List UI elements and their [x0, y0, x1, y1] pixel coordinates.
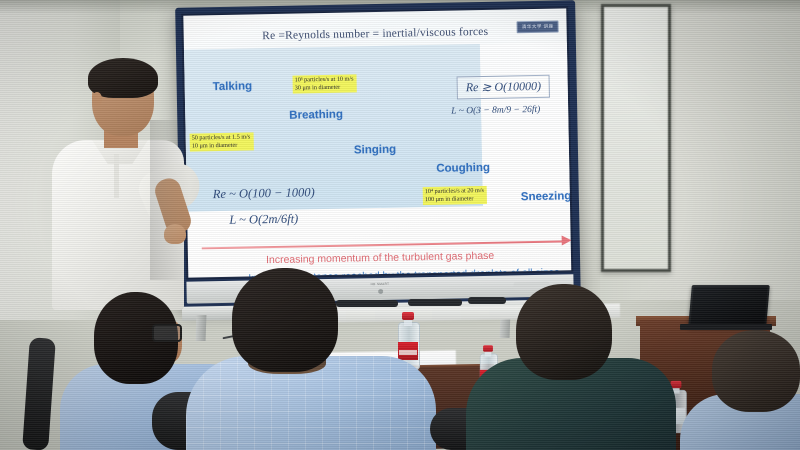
- slide-content: Re =Reynolds number = inertial/viscous f…: [183, 8, 571, 277]
- caption-momentum: Increasing momentum of the turbulent gas…: [266, 250, 494, 266]
- slide-mode-singing: Singing: [354, 144, 396, 157]
- display-bezel: Re =Reynolds number = inertial/viscous f…: [181, 6, 573, 279]
- presenter-placket: [114, 154, 119, 198]
- annotation-breathing-line2: 10 μm in diameter: [192, 141, 251, 150]
- presenter-ear: [92, 92, 102, 106]
- slide-mode-talking: Talking: [213, 80, 253, 93]
- increasing-arrow-head: [562, 235, 572, 245]
- whiteboard-surface: [606, 9, 666, 267]
- presentation-display[interactable]: Re =Reynolds number = inertial/viscous f…: [175, 0, 581, 308]
- slide-watermark: 清华大学 讲座: [517, 21, 559, 34]
- photo-scene: Re =Reynolds number = inertial/viscous f…: [0, 0, 800, 450]
- equation-left-re: Re ~ O(100 − 1000): [213, 185, 315, 202]
- annotation-breathing: 50 particles/s at 1.5 m/s 10 μm in diame…: [190, 132, 254, 151]
- increasing-arrow-line: [202, 240, 566, 249]
- slide-right-tint: [480, 42, 570, 206]
- annotation-coughing: 10⁴ particles/s at 20 m/s 100 μm in diam…: [423, 186, 488, 205]
- attendee-front-right: [466, 284, 656, 450]
- equation-left-l: L ~ O(2m/6ft): [229, 212, 298, 228]
- equation-right-l: L ~ O(3 − 8m/9 − 26ft): [451, 105, 540, 117]
- attendee-far-right: [690, 330, 800, 450]
- attendee-front-center: [186, 268, 416, 450]
- attendee-front-center-head: [232, 268, 338, 372]
- laptop[interactable]: [688, 285, 770, 327]
- display-screen: Re =Reynolds number = inertial/viscous f…: [183, 8, 571, 277]
- equation-boxed-re: Re ≳ O(10000): [457, 75, 551, 100]
- ledge-object-2: [408, 299, 462, 306]
- presenter-shadow: [150, 120, 190, 280]
- whiteboard-panel: [601, 4, 671, 272]
- slide-mode-breathing: Breathing: [289, 109, 343, 122]
- attendee-front-right-head: [516, 284, 612, 380]
- annotation-talking: 10³ particles/s at 10 m/s 30 μm in diame…: [292, 74, 356, 93]
- slide-mode-coughing: Coughing: [436, 162, 490, 175]
- attendee-front-left-glasses: [152, 324, 182, 342]
- annotation-talking-line2: 30 μm in diameter: [295, 83, 354, 92]
- annotation-coughing-line2: 100 μm in diameter: [425, 195, 484, 204]
- laptop-screen: [690, 287, 767, 325]
- attendee-far-right-head: [712, 330, 800, 412]
- slide-mode-sneezing: Sneezing: [521, 190, 572, 203]
- slide-title: Re =Reynolds number = inertial/viscous f…: [184, 24, 567, 43]
